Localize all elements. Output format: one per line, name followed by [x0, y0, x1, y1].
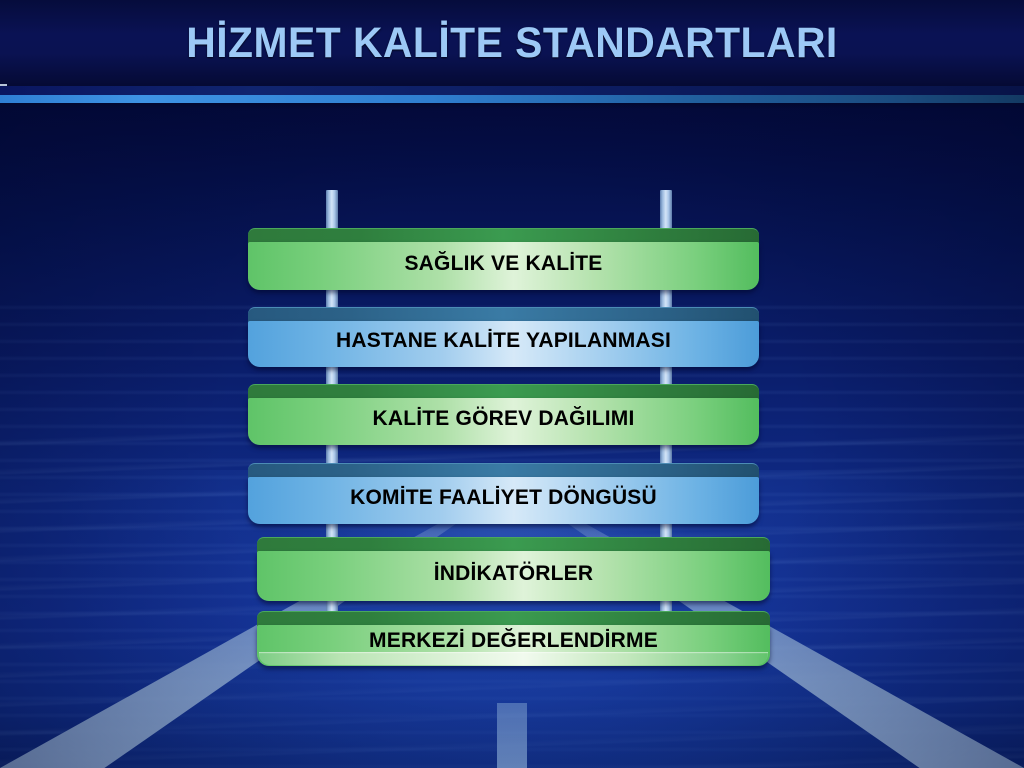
ladder-bar[interactable]: KALİTE GÖREV DAĞILIMI [248, 384, 759, 445]
title-divider-dark [0, 86, 1024, 95]
ladder-bar[interactable]: HASTANE KALİTE YAPILANMASI [248, 307, 759, 367]
ladder-bar-label: KOMİTE FAALİYET DÖNGÜSÜ [248, 486, 759, 510]
ladder-bar[interactable]: KOMİTE FAALİYET DÖNGÜSÜ [248, 463, 759, 524]
ladder-bar-label: HASTANE KALİTE YAPILANMASI [248, 329, 759, 353]
page-title: HİZMET KALİTE STANDARTLARI [26, 19, 999, 68]
ladder-bar-bottom-bevel [259, 652, 768, 665]
ladder-bar[interactable]: İNDİKATÖRLER [257, 537, 770, 601]
ladder-bar-label: SAĞLIK VE KALİTE [248, 252, 759, 276]
ladder-bar-label: İNDİKATÖRLER [257, 562, 770, 586]
title-divider-shadow [0, 103, 1024, 109]
title-band: HİZMET KALİTE STANDARTLARI [0, 0, 1024, 86]
ladder-bar[interactable]: SAĞLIK VE KALİTE [248, 228, 759, 290]
title-divider-light [0, 95, 1024, 103]
slide-canvas: HİZMET KALİTE STANDARTLARI SAĞLIK VE KAL… [0, 0, 1024, 768]
ladder-bar[interactable]: MERKEZİ DEĞERLENDİRME [257, 611, 770, 666]
ladder-bar-label: KALİTE GÖREV DAĞILIMI [248, 407, 759, 431]
ladder-bar-label: MERKEZİ DEĞERLENDİRME [257, 629, 770, 653]
